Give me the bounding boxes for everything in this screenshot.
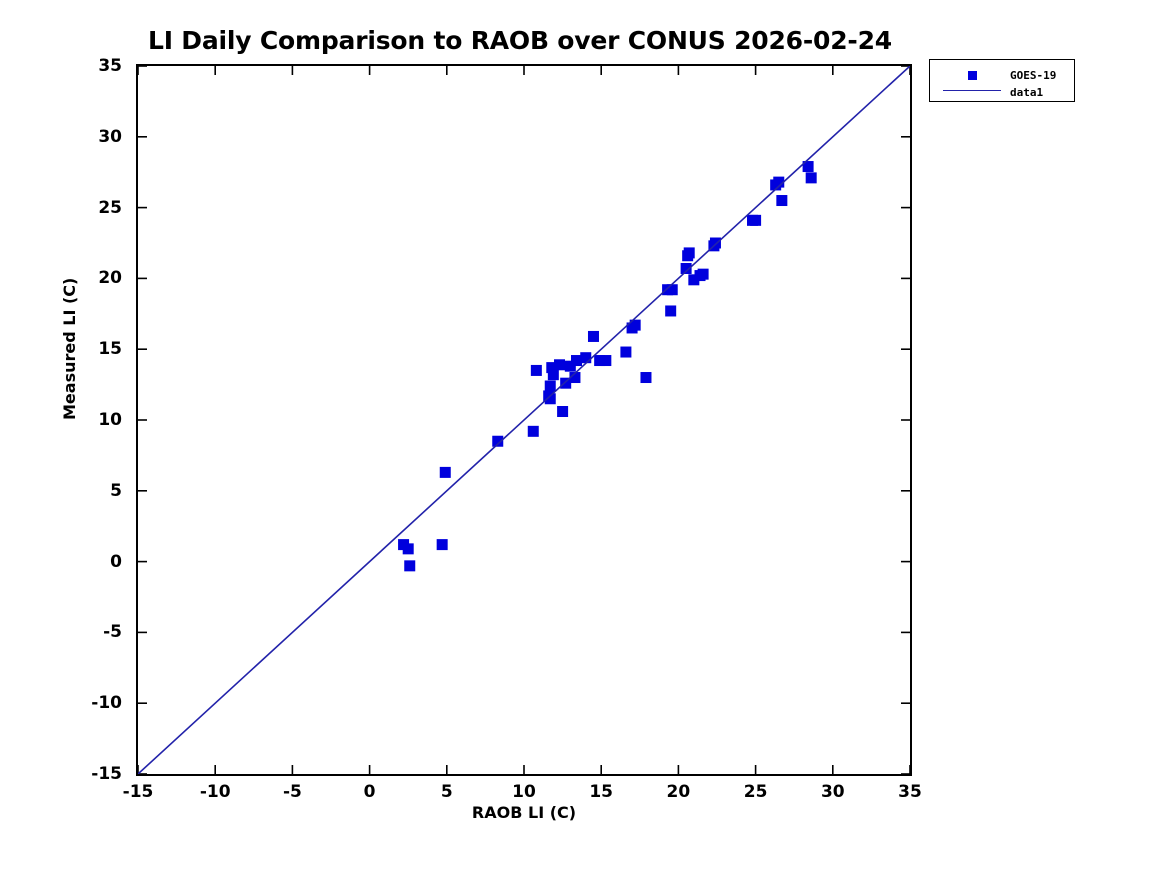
x-tick-label: 20 [648, 782, 708, 802]
y-tick-label: 5 [64, 481, 122, 501]
y-tick-label: -10 [64, 693, 122, 713]
y-tick-label: 0 [64, 552, 122, 572]
x-tick-label: 25 [726, 782, 786, 802]
y-tick-label: 30 [64, 127, 122, 147]
x-tick-label: 15 [571, 782, 631, 802]
x-tick-label: 5 [417, 782, 477, 802]
y-tick-label: 25 [64, 198, 122, 218]
plot-area [136, 64, 912, 776]
x-tick-label: -15 [108, 782, 168, 802]
legend-label-goes19: GOES-19 [1010, 69, 1056, 82]
y-axis-title: Measured LI (C) [60, 278, 79, 420]
y-tick-label: 35 [64, 56, 122, 76]
x-tick-label: 35 [880, 782, 940, 802]
legend-marker-swatch-goes19 [968, 71, 977, 80]
legend-line-swatch-data1 [943, 90, 1001, 91]
legend: GOES-19 data1 [929, 59, 1075, 102]
x-tick-label: 30 [803, 782, 863, 802]
x-tick-label: -10 [185, 782, 245, 802]
y-tick-label: -15 [64, 764, 122, 784]
legend-label-data1: data1 [1010, 86, 1043, 99]
x-tick-label: 0 [340, 782, 400, 802]
chart-title: LI Daily Comparison to RAOB over CONUS 2… [0, 26, 1040, 55]
x-axis-title: RAOB LI (C) [136, 803, 912, 822]
x-tick-label: -5 [262, 782, 322, 802]
plot-canvas [138, 66, 910, 774]
y-tick-label: -5 [64, 622, 122, 642]
chart-figure: LI Daily Comparison to RAOB over CONUS 2… [0, 0, 1167, 875]
x-tick-label: 10 [494, 782, 554, 802]
